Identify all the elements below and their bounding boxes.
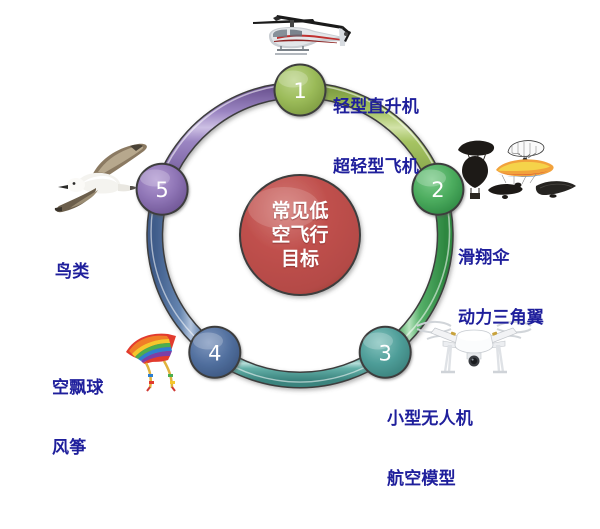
node-2-number: 2 xyxy=(431,178,444,202)
node-3-label: 小型无人机 航空模型 xyxy=(387,369,473,529)
paraglider-image xyxy=(452,138,594,210)
node-1-number: 1 xyxy=(293,79,306,103)
node-5-label-line-1: 鸟类 xyxy=(55,262,89,282)
diagram-canvas: 1 2 3 4 5 常见低 空飞行 目标 xyxy=(0,0,600,417)
node-4-label-line-1: 空飘球 xyxy=(52,378,104,398)
node-2-label: 滑翔伞 动力三角翼 xyxy=(458,208,544,368)
node-3-label-line-2: 航空模型 xyxy=(387,469,473,489)
node-4-label-line-2: 风筝 xyxy=(52,438,104,458)
node-4-label: 空飘球 风筝 xyxy=(52,338,104,498)
kite-image xyxy=(120,330,192,392)
node-3-number: 3 xyxy=(379,341,392,365)
node-1-label-line-2: 超轻型飞机 xyxy=(333,157,419,177)
node-circle-4[interactable]: 4 xyxy=(188,326,241,379)
node-2-label-line-2: 动力三角翼 xyxy=(458,308,544,328)
node-1-label-line-1: 轻型直升机 xyxy=(333,97,419,117)
node-4-number: 4 xyxy=(208,341,221,365)
node-5-label: 鸟类 xyxy=(55,222,89,322)
node-3-label-line-1: 小型无人机 xyxy=(387,409,473,429)
node-2-label-line-1: 滑翔伞 xyxy=(458,248,544,268)
node-circle-1[interactable]: 1 xyxy=(274,64,327,117)
node-1-label: 轻型直升机 超轻型飞机 xyxy=(333,57,419,217)
bird-seagull-image xyxy=(46,140,158,216)
